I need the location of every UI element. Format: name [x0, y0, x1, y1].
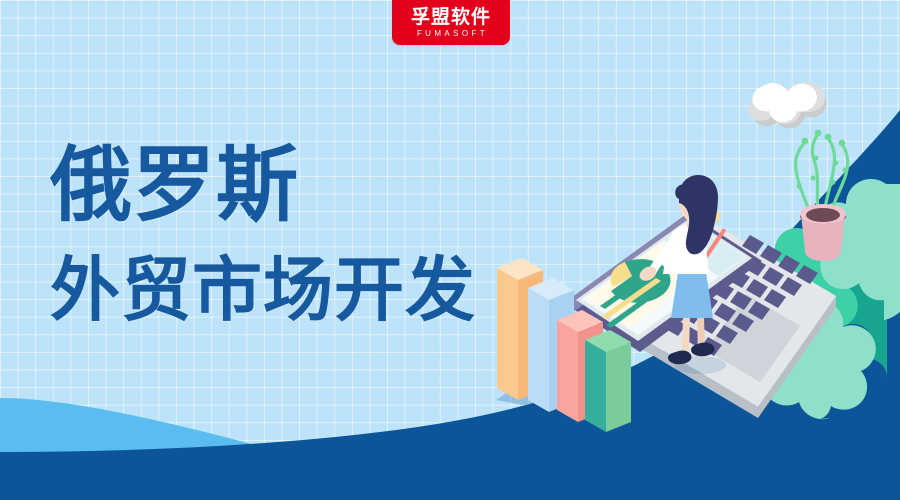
- page-title: 俄罗斯 外贸市场开发: [50, 145, 476, 325]
- fumasoft-logo[interactable]: 孚盟软件 FUMASOFT: [392, 0, 510, 45]
- logo-english-text: FUMASOFT: [414, 28, 488, 39]
- logo-chinese-text: 孚盟软件: [411, 8, 491, 28]
- title-line-2: 外贸市场开发: [50, 255, 476, 325]
- title-line-1: 俄罗斯: [50, 145, 476, 227]
- banner-root: 孚盟软件 FUMASOFT 俄罗斯 外贸市场开发: [0, 0, 900, 500]
